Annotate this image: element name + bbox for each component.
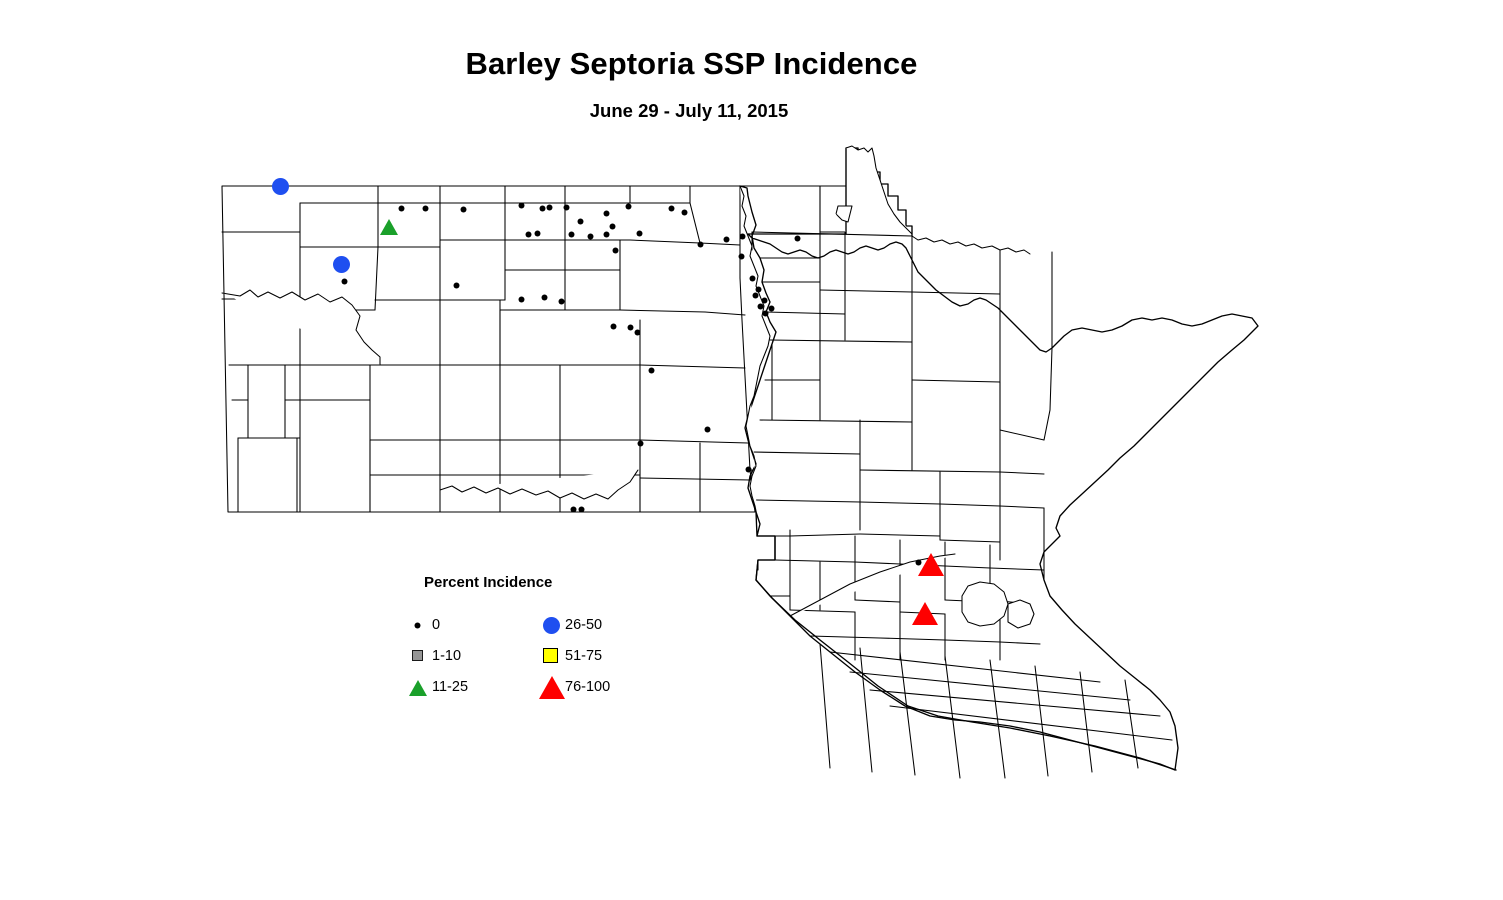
incidence-dot-symbol <box>415 623 420 628</box>
legend-label: 0 <box>432 617 440 633</box>
incidence-dot-symbol <box>610 224 615 229</box>
map-data-point <box>542 295 547 300</box>
incidence-dot-symbol <box>571 507 576 512</box>
gray-square-icon <box>406 644 432 670</box>
legend-label: 11-25 <box>432 679 468 695</box>
incidence-dot-symbol <box>342 279 347 284</box>
incidence-dot-symbol <box>746 467 751 472</box>
map-data-point <box>740 234 745 239</box>
yellow-square-icon <box>539 644 565 670</box>
incidence-dot-symbol <box>423 206 428 211</box>
map-data-point <box>758 304 763 309</box>
legend-label: 26-50 <box>565 617 602 633</box>
incidence-dot-symbol <box>547 205 552 210</box>
map-data-point <box>916 560 921 565</box>
incidence-dot-symbol <box>564 205 569 210</box>
incidence-dot-symbol <box>626 204 631 209</box>
incidence-dot-symbol <box>604 232 609 237</box>
legend-label: 76-100 <box>565 679 610 695</box>
incidence-dot-symbol <box>579 507 584 512</box>
incidence-dot-symbol <box>705 427 710 432</box>
incidence-dot-symbol <box>519 203 524 208</box>
map-data-point <box>724 237 729 242</box>
map-data-point <box>649 368 654 373</box>
map-data-point <box>526 232 531 237</box>
incidence-dot-symbol <box>559 299 564 304</box>
map-data-point <box>613 248 618 253</box>
minnesota-counties <box>740 146 1258 778</box>
incidence-dot-symbol <box>724 237 729 242</box>
map-data-point <box>519 203 524 208</box>
incidence-dot-symbol <box>526 232 531 237</box>
map-data-point <box>739 254 744 259</box>
map-data-point <box>762 298 767 303</box>
map-data-point <box>763 311 768 316</box>
map-data-point <box>272 178 289 195</box>
incidence-blue-circle-symbol <box>543 617 560 634</box>
map-data-point <box>559 299 564 304</box>
map-data-point <box>564 205 569 210</box>
incidence-dot-symbol <box>750 276 755 281</box>
map-data-point <box>588 234 593 239</box>
map-data-point <box>795 236 800 241</box>
incidence-red-triangle-symbol <box>912 602 938 625</box>
incidence-dot-symbol <box>916 560 921 565</box>
map-data-point <box>571 507 576 512</box>
incidence-dot-symbol <box>611 324 616 329</box>
map-data-point <box>705 427 710 432</box>
map-data-point <box>519 297 524 302</box>
map-data-point <box>918 553 944 576</box>
map-data-point <box>628 325 633 330</box>
incidence-dot-symbol <box>454 283 459 288</box>
map-data-point <box>342 279 347 284</box>
incidence-red-triangle-symbol <box>918 553 944 576</box>
incidence-dot-symbol <box>762 298 767 303</box>
map-data-point <box>333 256 350 273</box>
map-data-point <box>540 206 545 211</box>
incidence-dot-symbol <box>578 219 583 224</box>
incidence-yellow-square-symbol <box>543 648 558 663</box>
incidence-dot-symbol <box>399 206 404 211</box>
incidence-dot-symbol <box>763 311 768 316</box>
red-triangle-icon <box>539 675 565 701</box>
map-data-point <box>635 330 640 335</box>
map-data-point <box>746 467 751 472</box>
legend: Percent Incidence 01-1011-2526-5051-7576… <box>404 570 669 700</box>
map-data-point <box>578 219 583 224</box>
map-data-point <box>461 207 466 212</box>
map-data-point <box>669 206 674 211</box>
states-counties-map <box>0 0 1503 900</box>
incidence-dot-symbol <box>682 210 687 215</box>
map-data-point <box>698 242 703 247</box>
incidence-dot-symbol <box>698 242 703 247</box>
map-data-point <box>626 204 631 209</box>
incidence-dot-symbol <box>758 304 763 309</box>
map-data-point <box>912 602 938 625</box>
legend-label: 1-10 <box>432 648 461 664</box>
legend-label: 51-75 <box>565 648 602 664</box>
incidence-green-triangle-symbol <box>380 219 398 235</box>
map-canvas <box>0 0 1503 900</box>
map-data-point <box>454 283 459 288</box>
blue-circle-icon <box>539 613 565 639</box>
incidence-green-triangle-symbol <box>409 680 427 696</box>
map-data-point <box>637 231 642 236</box>
incidence-dot-symbol <box>753 293 758 298</box>
map-data-point <box>611 324 616 329</box>
incidence-dot-symbol <box>795 236 800 241</box>
incidence-dot-symbol <box>635 330 640 335</box>
map-data-point <box>750 276 755 281</box>
map-data-point <box>569 232 574 237</box>
map-data-point <box>399 206 404 211</box>
incidence-blue-circle-symbol <box>272 178 289 195</box>
incidence-dot-symbol <box>604 211 609 216</box>
incidence-dot-symbol <box>613 248 618 253</box>
incidence-dot-symbol <box>669 206 674 211</box>
green-triangle-icon <box>406 675 432 701</box>
incidence-dot-symbol <box>461 207 466 212</box>
incidence-dot-symbol <box>569 232 574 237</box>
map-data-point <box>535 231 540 236</box>
incidence-red-triangle-symbol <box>539 676 565 699</box>
map-data-point <box>380 219 398 235</box>
map-data-point <box>610 224 615 229</box>
incidence-dot-symbol <box>519 297 524 302</box>
map-data-point <box>769 306 774 311</box>
north-dakota-counties <box>222 186 755 512</box>
incidence-dot-symbol <box>628 325 633 330</box>
incidence-dot-symbol <box>756 287 761 292</box>
incidence-gray-square-symbol <box>412 650 423 661</box>
incidence-dot-symbol <box>740 234 745 239</box>
map-data-point <box>604 211 609 216</box>
incidence-blue-circle-symbol <box>333 256 350 273</box>
incidence-dot-symbol <box>638 441 643 446</box>
map-data-point <box>638 441 643 446</box>
map-data-point <box>579 507 584 512</box>
incidence-dot-symbol <box>535 231 540 236</box>
incidence-dot-symbol <box>588 234 593 239</box>
map-data-point <box>547 205 552 210</box>
map-page: Barley Septoria SSP Incidence June 29 - … <box>0 0 1503 900</box>
incidence-dot-symbol <box>540 206 545 211</box>
incidence-dot-symbol <box>637 231 642 236</box>
incidence-dot-symbol <box>649 368 654 373</box>
map-data-point <box>756 287 761 292</box>
map-data-point <box>682 210 687 215</box>
map-data-point <box>423 206 428 211</box>
legend-title: Percent Incidence <box>424 574 552 591</box>
map-data-point <box>604 232 609 237</box>
incidence-dot-symbol <box>769 306 774 311</box>
small-black-dot-icon <box>406 613 432 639</box>
incidence-dot-symbol <box>739 254 744 259</box>
map-data-point <box>753 293 758 298</box>
incidence-dot-symbol <box>542 295 547 300</box>
